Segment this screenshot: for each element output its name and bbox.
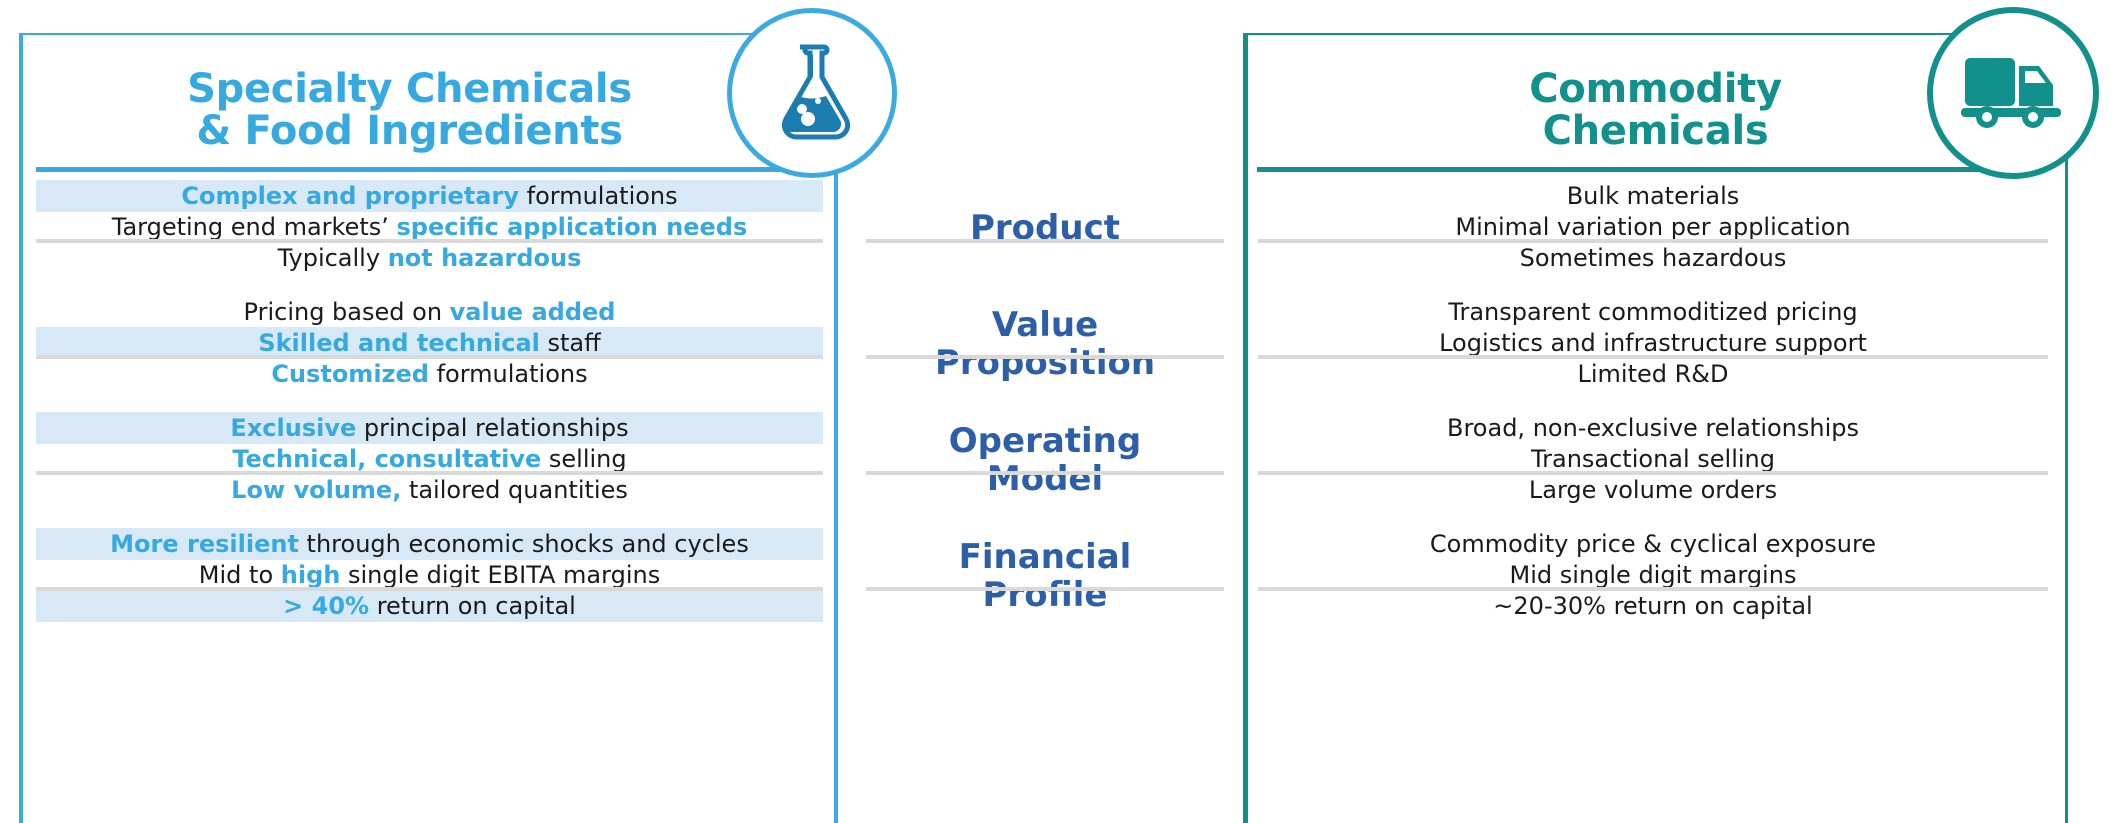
row-divider	[866, 355, 1224, 359]
emphasis-text: specific application needs	[397, 213, 748, 241]
middle-column-label-line: Operating	[866, 422, 1224, 460]
row-divider	[866, 239, 1224, 243]
specialty-chemicals-title-rule	[36, 167, 823, 172]
left-bullet-line: Low volume, tailored quantities	[36, 474, 823, 506]
right-bullet-line: Large volume orders	[1258, 474, 2048, 506]
middle-column-label-line: Model	[866, 460, 1224, 498]
specialty-chemicals-title-line1: Specialty Chemicals	[23, 68, 796, 110]
truck-icon-badge	[1927, 7, 2099, 179]
emphasis-text: Skilled and technical	[258, 329, 540, 357]
right-bullet-line: Bulk materials	[1258, 180, 2048, 212]
flask-icon	[766, 41, 858, 145]
emphasis-text: Complex and proprietary	[181, 182, 519, 210]
plain-text: formulations	[429, 360, 588, 388]
row-divider	[36, 239, 823, 243]
middle-column-label-line: Profile	[866, 576, 1224, 614]
middle-column-label: ValueProposition	[866, 306, 1224, 382]
left-bullet-line: More resilient through economic shocks a…	[36, 528, 823, 560]
row-divider	[1258, 471, 2048, 475]
row-divider	[866, 471, 1224, 475]
left-bullet-line: > 40% return on capital	[36, 590, 823, 622]
right-bullet-line: Transparent commoditized pricing	[1258, 296, 2048, 328]
emphasis-text: More resilient	[110, 530, 299, 558]
middle-column-label-line: Proposition	[866, 344, 1224, 382]
right-bullet-line: Sometimes hazardous	[1258, 242, 2048, 274]
plain-text: staff	[540, 329, 601, 357]
plain-text: selling	[541, 445, 626, 473]
row-divider	[36, 587, 823, 591]
row-divider	[1258, 587, 2048, 591]
middle-column-label-line: Financial	[866, 538, 1224, 576]
emphasis-text: Customized	[271, 360, 429, 388]
left-bullet-line: Customized formulations	[36, 358, 823, 390]
emphasis-text: not hazardous	[388, 244, 582, 272]
emphasis-text: Technical, consultative	[232, 445, 541, 473]
row-divider	[36, 471, 823, 475]
emphasis-text: > 40%	[283, 592, 369, 620]
specialty-chemicals-title-line2: & Food Ingredients	[23, 110, 796, 152]
plain-text: formulations	[519, 182, 678, 210]
row-divider	[1258, 355, 2048, 359]
plain-text: tailored quantities	[401, 476, 628, 504]
right-bullet-line: Commodity price & cyclical exposure	[1258, 528, 2048, 560]
middle-column-label: FinancialProfile	[866, 538, 1224, 614]
emphasis-text: Exclusive	[230, 414, 356, 442]
emphasis-text: value added	[450, 298, 616, 326]
plain-text: principal relationships	[356, 414, 628, 442]
plain-text: return on capital	[369, 592, 576, 620]
row-divider	[36, 355, 823, 359]
commodity-chemicals-title-rule	[1257, 167, 2047, 172]
plain-text: through economic shocks and cycles	[299, 530, 749, 558]
plain-text: Pricing based on	[244, 298, 450, 326]
emphasis-text: Low volume,	[231, 476, 401, 504]
right-bullet-line: Limited R&D	[1258, 358, 2048, 390]
left-bullet-line: Complex and proprietary formulations	[36, 180, 823, 212]
plain-text: single digit EBITA margins	[340, 561, 660, 589]
right-bullet-line: ~20-30% return on capital	[1258, 590, 2048, 622]
row-divider	[1258, 239, 2048, 243]
plain-text: Mid to	[199, 561, 281, 589]
left-bullet-line: Pricing based on value added	[36, 296, 823, 328]
specialty-chemicals-title: Specialty Chemicals & Food Ingredients	[23, 68, 796, 152]
right-bullet-line: Broad, non-exclusive relationships	[1258, 412, 2048, 444]
flask-icon-badge	[727, 8, 897, 178]
row-divider	[866, 587, 1224, 591]
plain-text: Typically	[278, 244, 388, 272]
plain-text: Targeting end markets’	[112, 213, 397, 241]
truck-icon	[1961, 52, 2065, 134]
emphasis-text: high	[281, 561, 341, 589]
left-bullet-line: Exclusive principal relationships	[36, 412, 823, 444]
left-bullet-line: Typically not hazardous	[36, 242, 823, 274]
middle-column-label-line: Value	[866, 306, 1224, 344]
middle-column-label: OperatingModel	[866, 422, 1224, 498]
